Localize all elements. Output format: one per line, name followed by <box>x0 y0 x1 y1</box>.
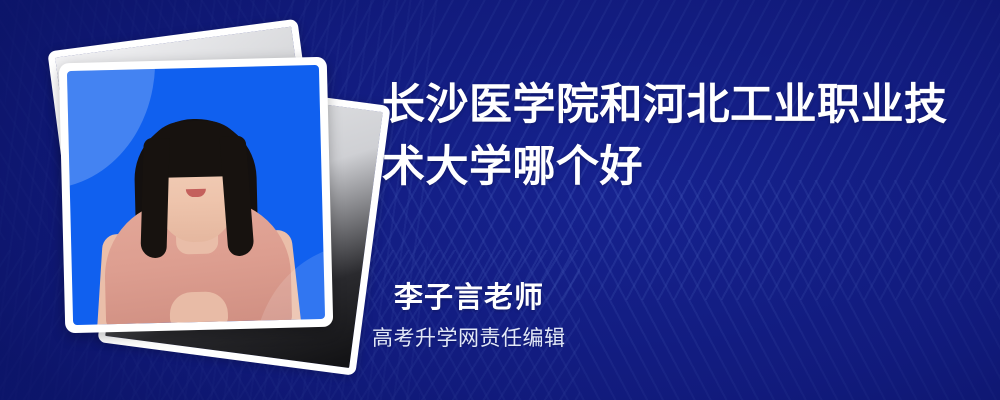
article-banner: 长沙医学院和河北工业职业技术大学哪个好 李子言老师 高考升学网责任编辑 <box>0 0 1000 400</box>
author-photo-frame <box>59 57 334 333</box>
portrait-illustration <box>67 65 325 325</box>
article-title: 长沙医学院和河北工业职业技术大学哪个好 <box>382 74 960 198</box>
author-name: 李子言老师 <box>394 274 544 316</box>
banner-text-block: 长沙医学院和河北工业职业技术大学哪个好 李子言老师 高考升学网责任编辑 <box>380 0 980 400</box>
author-role: 高考升学网责任编辑 <box>372 322 566 352</box>
photo-stack <box>48 34 368 364</box>
portrait-hands <box>169 291 228 325</box>
portrait-hair-front <box>144 120 245 178</box>
author-photo <box>67 65 325 325</box>
